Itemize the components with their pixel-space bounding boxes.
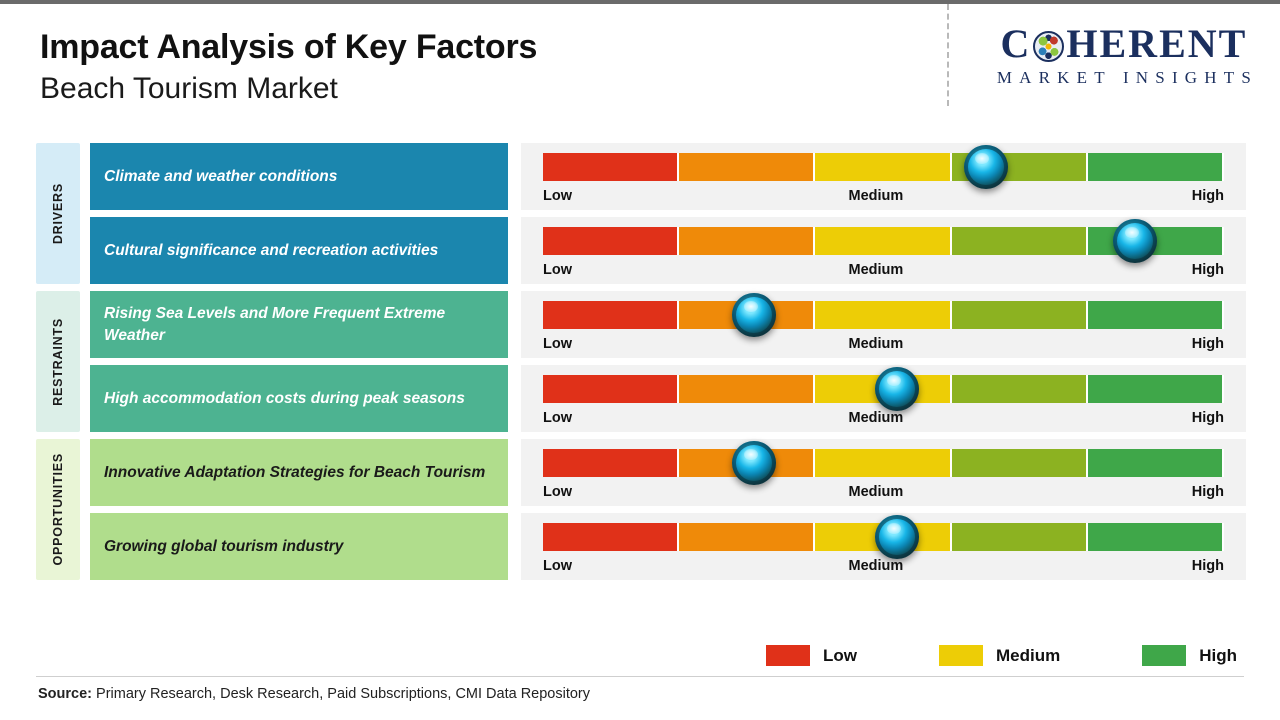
legend-item-low: Low	[766, 645, 857, 666]
gauge-label-low: Low	[543, 262, 572, 278]
factor-label-text: Cultural significance and recreation act…	[104, 240, 438, 262]
factor-label-box[interactable]: Rising Sea Levels and More Frequent Extr…	[90, 291, 508, 358]
factor-label-text: Rising Sea Levels and More Frequent Extr…	[104, 303, 494, 347]
gauge-scale-labels: LowMediumHigh	[543, 477, 1224, 500]
factor-row: High accommodation costs during peak sea…	[80, 365, 1246, 432]
source-text: Primary Research, Desk Research, Paid Su…	[92, 686, 590, 702]
category-label-text: OPPORTUNITIES	[51, 453, 65, 566]
header: Impact Analysis of Key Factors Beach Tou…	[40, 28, 537, 108]
gauge-bar	[543, 301, 1224, 329]
impact-gauge: LowMediumHigh	[521, 439, 1246, 506]
logo-word-left: C	[1001, 24, 1032, 64]
factor-label-text: Climate and weather conditions	[104, 166, 337, 188]
legend-item-high: High	[1142, 645, 1237, 666]
gauge-segment-2	[679, 523, 815, 551]
gauge-segment-5	[1088, 523, 1224, 551]
gauge-bar	[543, 227, 1224, 255]
company-logo: C HERENT MARKET INSIGHTS	[990, 24, 1258, 88]
gauge-segment-5	[1088, 375, 1224, 403]
factor-label-text: High accommodation costs during peak sea…	[104, 388, 465, 410]
legend-swatch	[1142, 645, 1186, 666]
gauge-segment-4	[952, 375, 1088, 403]
gauge-segment-3	[815, 153, 951, 181]
gauge-segment-1	[543, 375, 679, 403]
gauge-label-high: High	[1192, 262, 1224, 278]
logo-tagline: MARKET INSIGHTS	[990, 68, 1258, 88]
category-group-opportunities: OPPORTUNITIES Innovative Adaptation Stra…	[36, 439, 1246, 580]
factor-label-box[interactable]: High accommodation costs during peak sea…	[90, 365, 508, 432]
factor-row: Innovative Adaptation Strategies for Bea…	[80, 439, 1246, 506]
gauge-label-low: Low	[543, 484, 572, 500]
factor-row: Climate and weather conditionsLowMediumH…	[80, 143, 1246, 210]
gauge-label-low: Low	[543, 558, 572, 574]
gauge-segment-3	[815, 227, 951, 255]
gauge-label-medium: Medium	[849, 558, 904, 574]
gauge-label-high: High	[1192, 558, 1224, 574]
gauge-bar	[543, 449, 1224, 477]
category-rows: Climate and weather conditionsLowMediumH…	[80, 143, 1246, 284]
gauge-label-medium: Medium	[849, 188, 904, 204]
legend-label: Medium	[996, 646, 1060, 666]
logo-divider	[947, 4, 949, 106]
impact-marker[interactable]	[875, 367, 919, 411]
factor-row: Growing global tourism industryLowMedium…	[80, 513, 1246, 580]
gauge-segment-4	[952, 523, 1088, 551]
legend: LowMediumHigh	[766, 645, 1237, 666]
gauge-segment-3	[815, 449, 951, 477]
gauge-label-low: Low	[543, 188, 572, 204]
factor-label-box[interactable]: Innovative Adaptation Strategies for Bea…	[90, 439, 508, 506]
legend-label: Low	[823, 646, 857, 666]
top-accent-bar	[0, 0, 1280, 4]
gauge-bar	[543, 375, 1224, 403]
category-rows: Rising Sea Levels and More Frequent Extr…	[80, 291, 1246, 432]
source-note: Source: Primary Research, Desk Research,…	[38, 686, 590, 702]
category-label-restraints: RESTRAINTS	[36, 291, 80, 432]
category-rows: Innovative Adaptation Strategies for Bea…	[80, 439, 1246, 580]
gauge-label-high: High	[1192, 484, 1224, 500]
gauge-segment-3	[815, 301, 951, 329]
gauge-bar	[543, 153, 1224, 181]
legend-swatch	[766, 645, 810, 666]
factor-label-box[interactable]: Climate and weather conditions	[90, 143, 508, 210]
impact-marker[interactable]	[964, 145, 1008, 189]
impact-gauge: LowMediumHigh	[521, 143, 1246, 210]
category-group-restraints: RESTRAINTSRising Sea Levels and More Fre…	[36, 291, 1246, 432]
factor-label-box[interactable]: Growing global tourism industry	[90, 513, 508, 580]
impact-gauge: LowMediumHigh	[521, 365, 1246, 432]
category-label-text: DRIVERS	[51, 183, 65, 244]
legend-swatch	[939, 645, 983, 666]
gauge-segment-1	[543, 227, 679, 255]
gauge-segment-2	[679, 227, 815, 255]
gauge-segment-2	[679, 375, 815, 403]
gauge-segment-4	[952, 449, 1088, 477]
category-group-drivers: DRIVERSClimate and weather conditionsLow…	[36, 143, 1246, 284]
gauge-label-medium: Medium	[849, 484, 904, 500]
gauge-label-medium: Medium	[849, 410, 904, 426]
gauge-scale-labels: LowMediumHigh	[543, 329, 1224, 352]
gauge-label-high: High	[1192, 188, 1224, 204]
gauge-segment-1	[543, 449, 679, 477]
impact-gauge: LowMediumHigh	[521, 217, 1246, 284]
gauge-segment-5	[1088, 449, 1224, 477]
factor-row: Cultural significance and recreation act…	[80, 217, 1246, 284]
gauge-label-low: Low	[543, 410, 572, 426]
impact-gauge: LowMediumHigh	[521, 513, 1246, 580]
gauge-bar	[543, 523, 1224, 551]
gauge-label-medium: Medium	[849, 336, 904, 352]
page-title: Impact Analysis of Key Factors	[40, 28, 537, 66]
gauge-label-high: High	[1192, 410, 1224, 426]
source-label: Source:	[38, 686, 92, 702]
page-subtitle: Beach Tourism Market	[40, 70, 537, 108]
impact-marker[interactable]	[732, 441, 776, 485]
impact-marker[interactable]	[875, 515, 919, 559]
category-label-drivers: DRIVERS	[36, 143, 80, 284]
legend-item-medium: Medium	[939, 645, 1060, 666]
impact-gauge: LowMediumHigh	[521, 291, 1246, 358]
impact-matrix: DRIVERSClimate and weather conditionsLow…	[36, 143, 1246, 587]
factor-label-text: Growing global tourism industry	[104, 536, 343, 558]
gauge-segment-4	[952, 301, 1088, 329]
gauge-segment-2	[679, 153, 815, 181]
category-label-text: RESTRAINTS	[51, 318, 65, 406]
factor-label-text: Innovative Adaptation Strategies for Bea…	[104, 462, 485, 484]
gauge-segment-4	[952, 227, 1088, 255]
gauge-segment-5	[1088, 153, 1224, 181]
logo-wordmark: C HERENT	[990, 24, 1258, 64]
globe-icon	[1033, 31, 1064, 62]
impact-marker[interactable]	[732, 293, 776, 337]
category-label-opportunities: OPPORTUNITIES	[36, 439, 80, 580]
factor-row: Rising Sea Levels and More Frequent Extr…	[80, 291, 1246, 358]
gauge-label-low: Low	[543, 336, 572, 352]
gauge-segment-5	[1088, 301, 1224, 329]
gauge-segment-1	[543, 523, 679, 551]
footer-divider	[36, 676, 1244, 677]
gauge-label-medium: Medium	[849, 262, 904, 278]
gauge-scale-labels: LowMediumHigh	[543, 181, 1224, 204]
gauge-segment-1	[543, 301, 679, 329]
gauge-label-high: High	[1192, 336, 1224, 352]
factor-label-box[interactable]: Cultural significance and recreation act…	[90, 217, 508, 284]
gauge-segment-1	[543, 153, 679, 181]
legend-label: High	[1199, 646, 1237, 666]
logo-word-right: HERENT	[1066, 24, 1247, 64]
